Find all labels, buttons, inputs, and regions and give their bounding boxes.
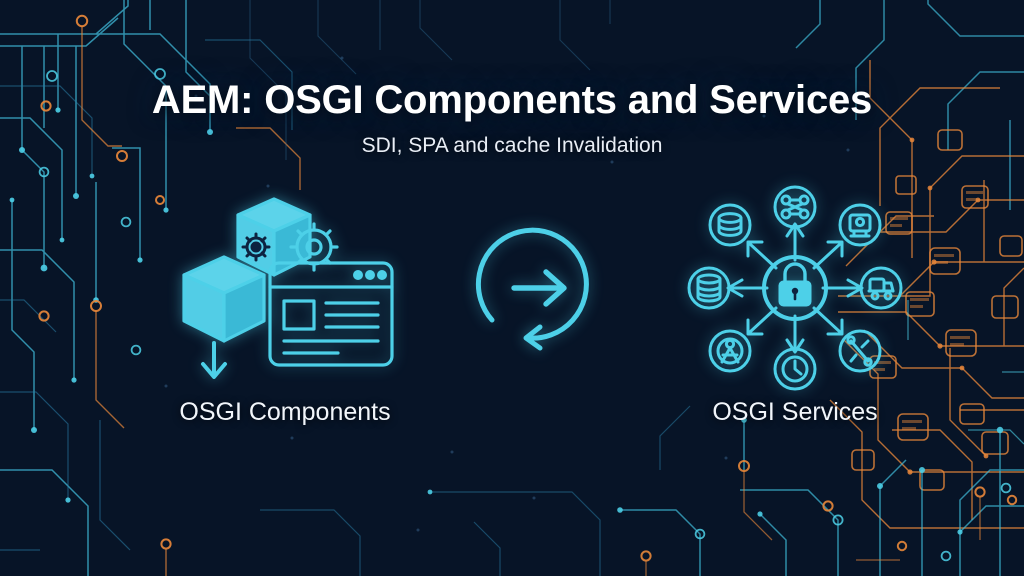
cache-invalidation-illustration: [455, 188, 625, 388]
osgi-services-column: OSGI Services: [630, 188, 960, 427]
person-target-icon: [710, 331, 750, 371]
osgi-services-illustration: [630, 188, 960, 388]
server-monitor-icon: [840, 205, 880, 245]
osgi-components-illustration: [110, 188, 460, 388]
osgi-components-column: OSGI Components: [110, 188, 460, 427]
osgi-components-label: OSGI Components: [110, 398, 460, 427]
slide-canvas: AEM: OSGI Components and Services SDI, S…: [0, 0, 1024, 576]
title-block: AEM: OSGI Components and Services SDI, S…: [0, 78, 1024, 158]
content-stage: OSGI Components: [0, 188, 1024, 448]
database-cylinder-icon: [710, 205, 750, 245]
clock-icon: [775, 349, 815, 389]
page-title: AEM: OSGI Components and Services: [0, 78, 1024, 123]
network-share-icon: [775, 187, 815, 227]
truck-delivery-icon: [861, 268, 901, 308]
page-subtitle: SDI, SPA and cache Invalidation: [0, 134, 1024, 158]
tools-wrench-icon: [840, 331, 880, 371]
arrow-down-icon: [203, 343, 225, 377]
cycle-column: [455, 188, 625, 398]
browser-window-icon: [270, 263, 392, 365]
cube-icon: [184, 257, 264, 341]
arrow-right-icon: [514, 272, 564, 304]
database-stack-icon: [689, 268, 729, 308]
lock-icon: [764, 257, 826, 319]
osgi-services-label: OSGI Services: [630, 398, 960, 427]
